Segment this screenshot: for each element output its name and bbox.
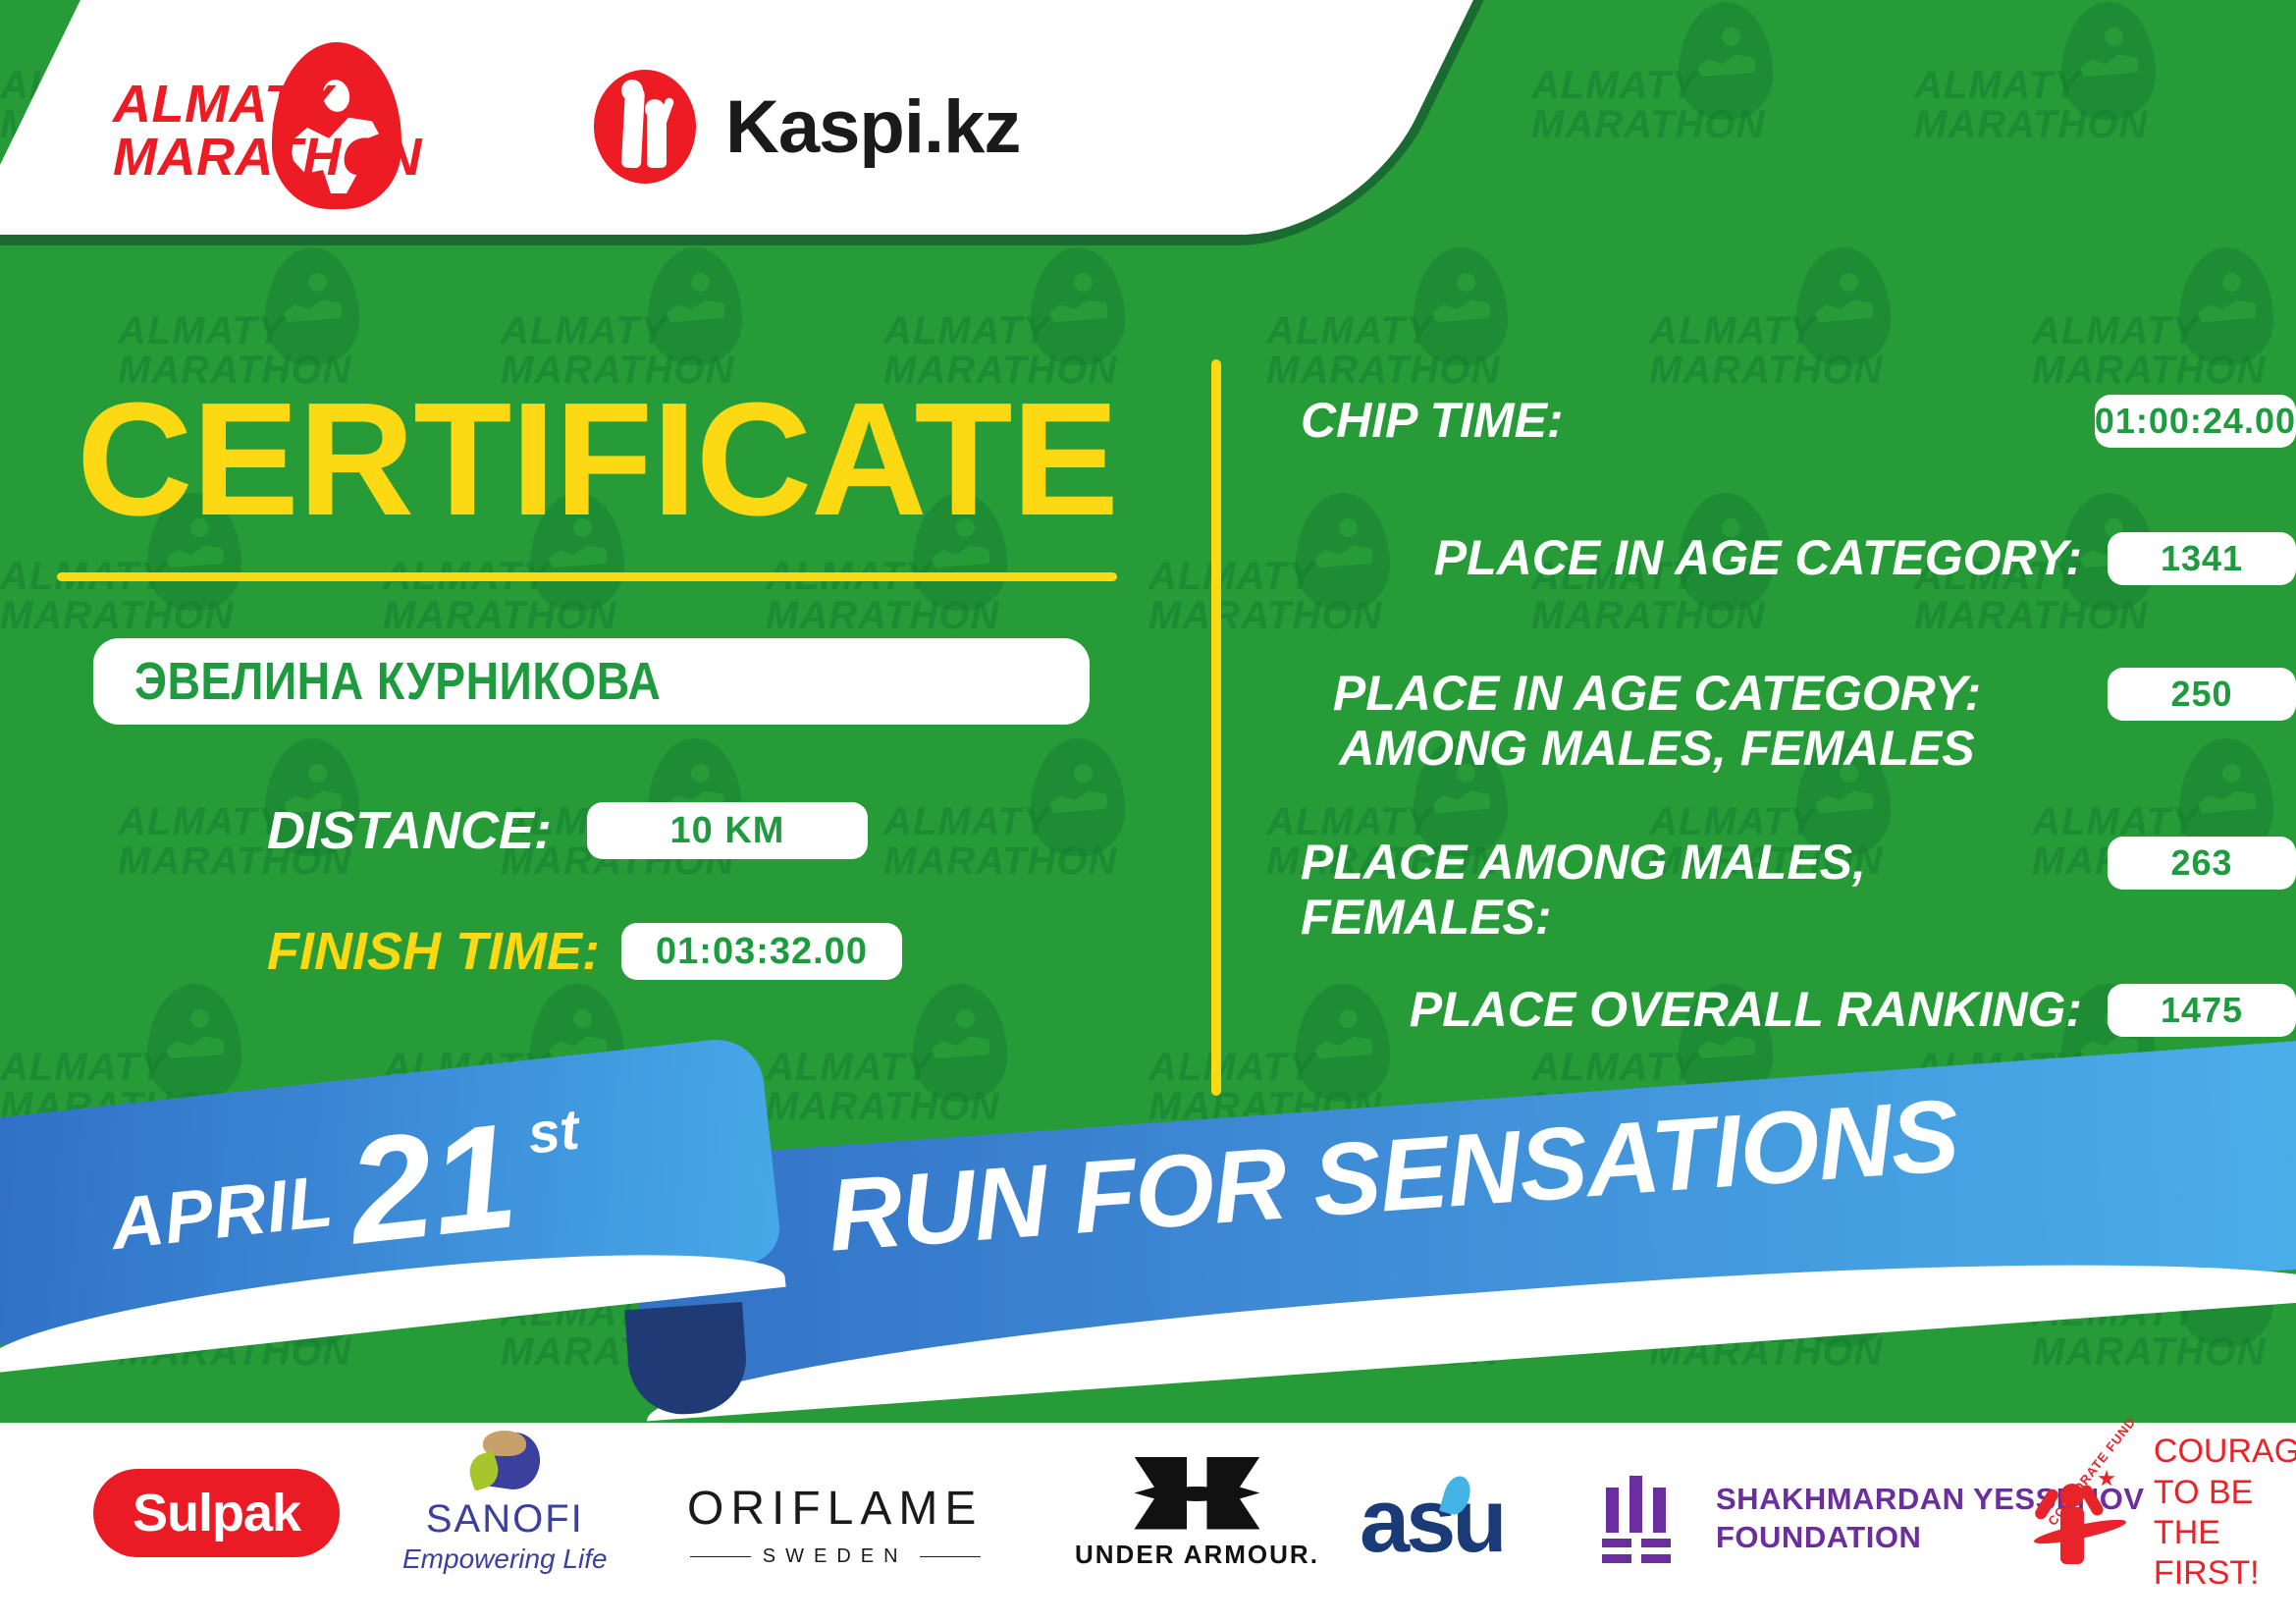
asu-text: asu	[1360, 1471, 1504, 1571]
label-line-1: PLACE AMONG MALES,	[1301, 835, 2082, 890]
certificate-root: ALMATYMARATHONALMATYMARATHONALMATYMARATH…	[0, 0, 2296, 1624]
sanofi-icon	[461, 1433, 548, 1493]
finish-time-row: FINISH TIME: 01:03:32.00	[267, 921, 902, 982]
place-age-category-value: 1341	[2108, 532, 2296, 585]
courage-star-icon	[2098, 1470, 2115, 1488]
label-line-2: FEMALES:	[1301, 890, 2082, 945]
finish-time-value: 01:03:32.00	[621, 923, 902, 980]
ye-dash-1	[1602, 1539, 1631, 1547]
sanofi-wordmark: SANOFI	[402, 1497, 608, 1542]
ye-bar-1	[1606, 1488, 1619, 1533]
oriflame-rule-right	[920, 1556, 981, 1557]
courage-line-1: COURAGE	[2154, 1432, 2296, 1472]
title-underline	[57, 572, 1117, 581]
place-age-category-label: PLACE IN AGE CATEGORY:	[1232, 530, 2108, 585]
under-armour-wordmark: UNDER ARMOUR.	[1075, 1540, 1319, 1570]
chip-time-row: CHIP TIME: 01:00:24.00	[1232, 393, 2296, 448]
page-title: CERTIFICATE	[77, 379, 1118, 540]
sponsor-courage-fund: CORPORATE FUND COURAGE TO BE THE FIRST!	[2027, 1444, 2296, 1582]
label-line-1: PLACE IN AGE CATEGORY:	[1232, 666, 2082, 721]
participant-name-value: ЭВЕЛИНА КУРНИКОВА	[134, 651, 661, 712]
yessenov-icon	[1600, 1474, 1682, 1564]
sponsor-bar: Sulpak SANOFI Empowering Life ORIFLAME S…	[0, 1423, 2296, 1624]
ua-center-bar	[1163, 1487, 1230, 1501]
courage-line-3: THE FIRST!	[2154, 1513, 2296, 1595]
ye-dash-4	[1641, 1554, 1671, 1563]
vertical-divider	[1211, 359, 1221, 1096]
sponsor-under-armour: UNDER ARMOUR.	[1075, 1444, 1319, 1582]
under-armour-icon	[1134, 1457, 1259, 1530]
sponsor-sulpak: Sulpak	[93, 1444, 340, 1582]
distance-row: DISTANCE: 10 KM	[267, 800, 868, 861]
chip-time-label: CHIP TIME:	[1232, 393, 2095, 448]
place-age-category-gender-value: 250	[2108, 668, 2296, 721]
participant-name-field: ЭВЕЛИНА КУРНИКОВА	[93, 638, 1090, 725]
ye-bar-3	[1653, 1488, 1666, 1533]
place-overall-value: 1475	[2108, 984, 2296, 1037]
place-among-gender-value: 263	[2108, 837, 2296, 890]
place-overall-label: PLACE OVERALL RANKING:	[1232, 982, 2108, 1037]
oriflame-wordmark: ORIFLAME	[687, 1482, 983, 1536]
courage-wordmark: COURAGE TO BE THE FIRST!	[2154, 1432, 2296, 1595]
place-among-gender-row: PLACE AMONG MALES, FEMALES: 263	[1232, 835, 2296, 945]
sponsor-oriflame: ORIFLAME SWEDEN	[687, 1456, 983, 1594]
courage-fund-icon: CORPORATE FUND	[2027, 1454, 2136, 1572]
oriflame-sub-text: SWEDEN	[763, 1545, 908, 1568]
distance-value: 10 KM	[587, 802, 868, 859]
asu-wordmark: asu	[1360, 1470, 1504, 1573]
courage-figure-head	[2060, 1484, 2084, 1507]
oriflame-rule-left	[690, 1556, 751, 1557]
label-line-2: AMONG MALES, FEMALES	[1232, 721, 2082, 776]
sanofi-tagline: Empowering Life	[402, 1543, 608, 1575]
ye-dash-3	[1602, 1554, 1631, 1563]
ye-dash-2	[1641, 1539, 1671, 1547]
ye-bar-2	[1629, 1476, 1642, 1533]
place-age-category-row: PLACE IN AGE CATEGORY: 1341	[1232, 530, 2296, 585]
event-day: 21	[343, 1111, 521, 1257]
courage-line-2: TO BE	[2154, 1473, 2296, 1513]
sulpak-wordmark: Sulpak	[93, 1469, 340, 1557]
chip-time-value: 01:00:24.00	[2095, 395, 2296, 448]
oriflame-sub: SWEDEN	[687, 1545, 983, 1568]
sponsor-sanofi: SANOFI Empowering Life	[402, 1435, 608, 1572]
sponsor-asu: asu	[1360, 1452, 1504, 1590]
place-age-category-gender-row: PLACE IN AGE CATEGORY: AMONG MALES, FEMA…	[1232, 666, 2296, 776]
place-among-gender-label: PLACE AMONG MALES, FEMALES:	[1232, 835, 2108, 945]
place-overall-row: PLACE OVERALL RANKING: 1475	[1232, 982, 2296, 1037]
distance-label: DISTANCE:	[267, 800, 552, 861]
place-age-category-gender-label: PLACE IN AGE CATEGORY: AMONG MALES, FEMA…	[1232, 666, 2108, 776]
finish-time-label: FINISH TIME:	[267, 921, 600, 982]
